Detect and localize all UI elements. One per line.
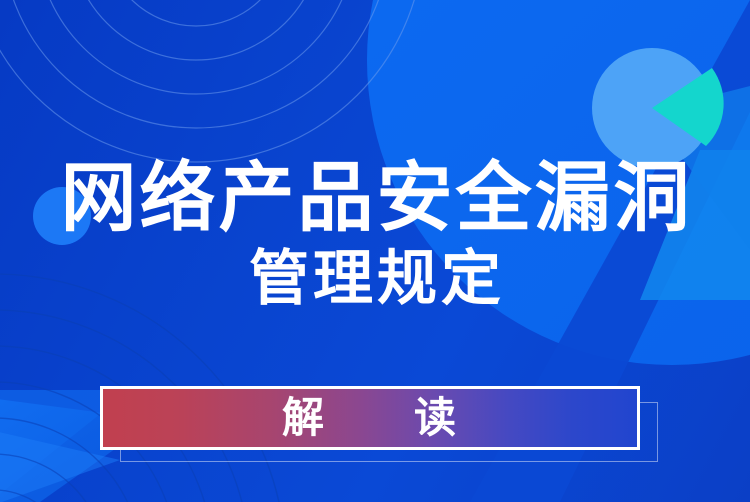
poster-canvas: 网络产品安全漏洞 管理规定 解 读: [0, 0, 750, 502]
title-block: 网络产品安全漏洞 管理规定: [0, 155, 750, 313]
pie-circle-base: [592, 48, 712, 168]
pie-slice-teal: [652, 68, 724, 146]
banner-block: 解 读: [100, 386, 660, 466]
banner-label: 解 读: [282, 395, 458, 441]
small-accent-circle: [386, 0, 454, 30]
concentric-rings-top: [0, 0, 424, 162]
sub-title: 管理规定: [0, 245, 750, 313]
banner-gradient-bar: 解 读: [100, 386, 640, 450]
main-title: 网络产品安全漏洞: [0, 155, 750, 241]
